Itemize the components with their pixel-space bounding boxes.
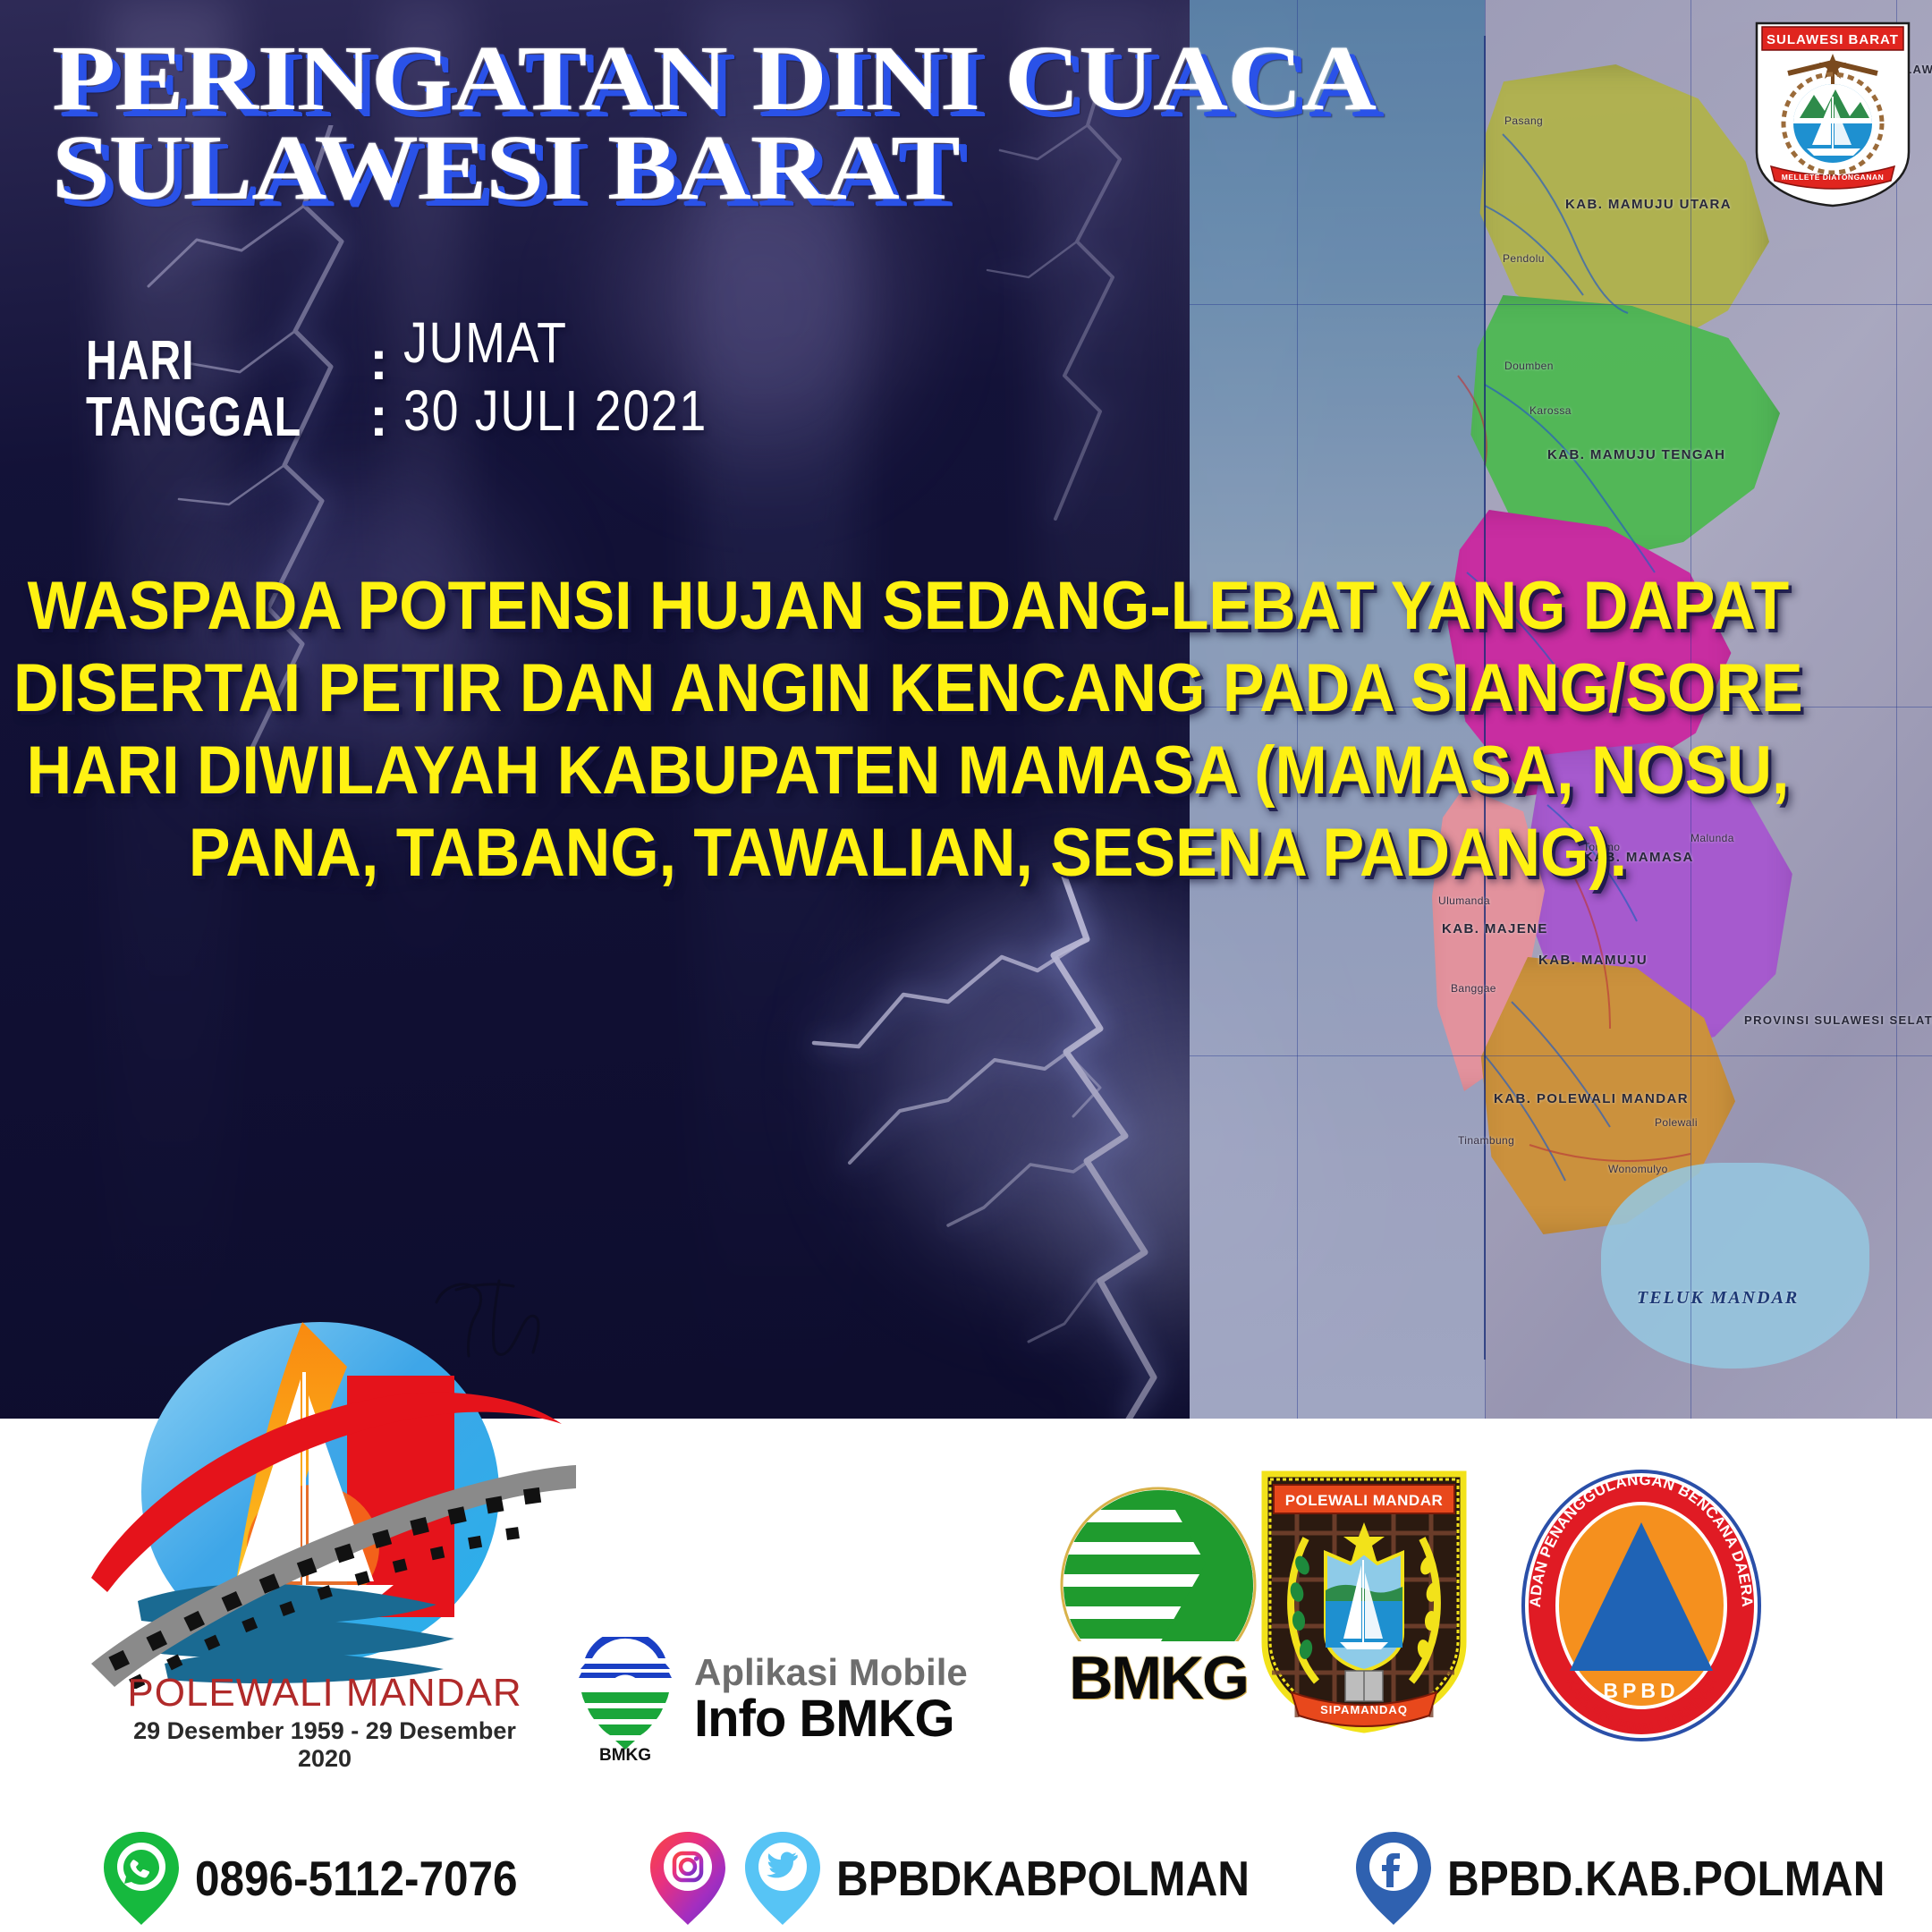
map-label-majene: KAB. MAJENE [1442,921,1548,936]
instagram-icon[interactable] [647,1828,729,1928]
twitter-handle: BPBDKABPOLMAN [836,1850,1250,1907]
polewali-mandar-seal: POLEWALI MANDAR SIPAMANDA [1252,1467,1476,1735]
map-label-mamuju-utara: KAB. MAMUJU UTARA [1565,197,1732,212]
map-label-mamuju-tengah: KAB. MAMUJU TENGAH [1547,447,1725,462]
map-label-polewali-mandar: KAB. POLEWALI MANDAR [1494,1091,1689,1106]
bmkg-logo-caption: BMKG [599,1746,651,1762]
sulawesi-barat-crest-icon: SULAWESI BARAT MELLETE DIATONGANAN [1748,18,1918,210]
map-town-label: Ulumanda [1438,894,1490,907]
seal-top-banner-text: POLEWALI MANDAR [1285,1492,1444,1509]
anniversary-dates: 29 Desember 1959 - 29 Desember 2020 [114,1717,535,1773]
facebook-icon[interactable] [1352,1828,1435,1928]
map-town-label: Doumben [1504,360,1554,372]
info-bmkg-app-lockup: BMKG Aplikasi Mobile Info BMKG [572,1637,968,1762]
map-label-sulawesi-selatan: PROVINSI SULAWESI SELATAN [1744,1013,1932,1027]
contact-facebook[interactable]: BPBD.KAB.POLMAN [1352,1828,1932,1928]
contact-row: 0896-5112-7076 [0,1825,1932,1932]
bmkg-round-logo-icon [1055,1485,1261,1641]
bmkg-app-line2: Info BMKG [694,1692,968,1745]
warning-line-2: DISERTAI PETIR DAN ANGIN KENCANG PADA SI… [13,655,1803,723]
day-label: HARI [86,333,301,389]
poster-title: PERINGATAN DINI CUACA SULAWESI BARAT [52,34,1206,213]
warning-line-4: PANA, TABANG, TAWALIAN, SESENA PADANG). [189,819,1627,887]
polewali-mandar-anniversary-logo [79,1313,580,1689]
bmkg-main-logo: BMKG [1042,1485,1275,1713]
title-line-2: SULAWESI BARAT [52,123,1344,213]
bmkg-wordmark: BMKG [1069,1643,1248,1713]
date-block: HARI TANGGAL : : JUMAT 30 JULI 2021 [86,333,766,445]
bmkg-logo-icon: BMKG [572,1637,678,1762]
warning-line-3: HARI DIWILAYAH KABUPATEN MAMASA (MAMASA,… [27,737,1790,805]
contact-twitter[interactable]: BPBDKABPOLMAN [741,1828,1295,1928]
contact-instagram[interactable] [647,1828,729,1928]
bpbd-center-label: BPBD [1603,1679,1679,1702]
seal-ribbon-motto-text: SIPAMANDAQ [1320,1703,1408,1716]
map-town-label: Karossa [1529,404,1572,417]
map-label-teluk-mandar: TELUK MANDAR [1637,1288,1799,1309]
crest-motto-text: MELLETE DIATONGANAN [1782,173,1885,182]
bpbd-seal: BPBD BADAN PENANGGULANGAN BENCANA DAERAH… [1512,1467,1771,1744]
twitter-icon[interactable] [741,1828,824,1928]
title-line-1: PERINGATAN DINI CUACA [52,34,1344,123]
map-town-label: Wonomulyo [1608,1163,1668,1175]
whatsapp-icon[interactable] [100,1828,182,1928]
map-label-mamuju: KAB. MAMUJU [1538,953,1648,968]
day-colon: : [369,333,389,389]
anniversary-name: POLEWALI MANDAR [114,1671,535,1716]
date-colon: : [369,389,389,445]
map-town-label: Pasang [1504,114,1543,127]
day-value: JUMAT [403,309,708,377]
crest-banner-text: SULAWESI BARAT [1767,32,1899,47]
whatsapp-number: 0896-5112-7076 [195,1850,518,1907]
map-town-label: Polewali [1655,1116,1698,1129]
bmkg-app-line1: Aplikasi Mobile [694,1654,968,1692]
anniversary-caption: POLEWALI MANDAR 29 Desember 1959 - 29 De… [114,1671,535,1773]
contact-whatsapp[interactable]: 0896-5112-7076 [100,1828,554,1928]
date-label: TANGGAL [86,389,301,445]
facebook-page: BPBD.KAB.POLMAN [1447,1850,1885,1907]
map-town-label: Pendolu [1503,252,1545,265]
warning-message: WASPADA POTENSI HUJAN SEDANG-LEBAT YANG … [0,572,1816,887]
warning-line-1: WASPADA POTENSI HUJAN SEDANG-LEBAT YANG … [27,572,1789,640]
weather-warning-poster: KAB. MAMUJU UTARA KAB. MAMUJU TENGAH KAB… [0,0,1932,1932]
map-town-label: Tinambung [1458,1134,1514,1147]
date-value: 30 JULI 2021 [403,377,708,445]
map-town-label: Banggae [1451,982,1496,995]
